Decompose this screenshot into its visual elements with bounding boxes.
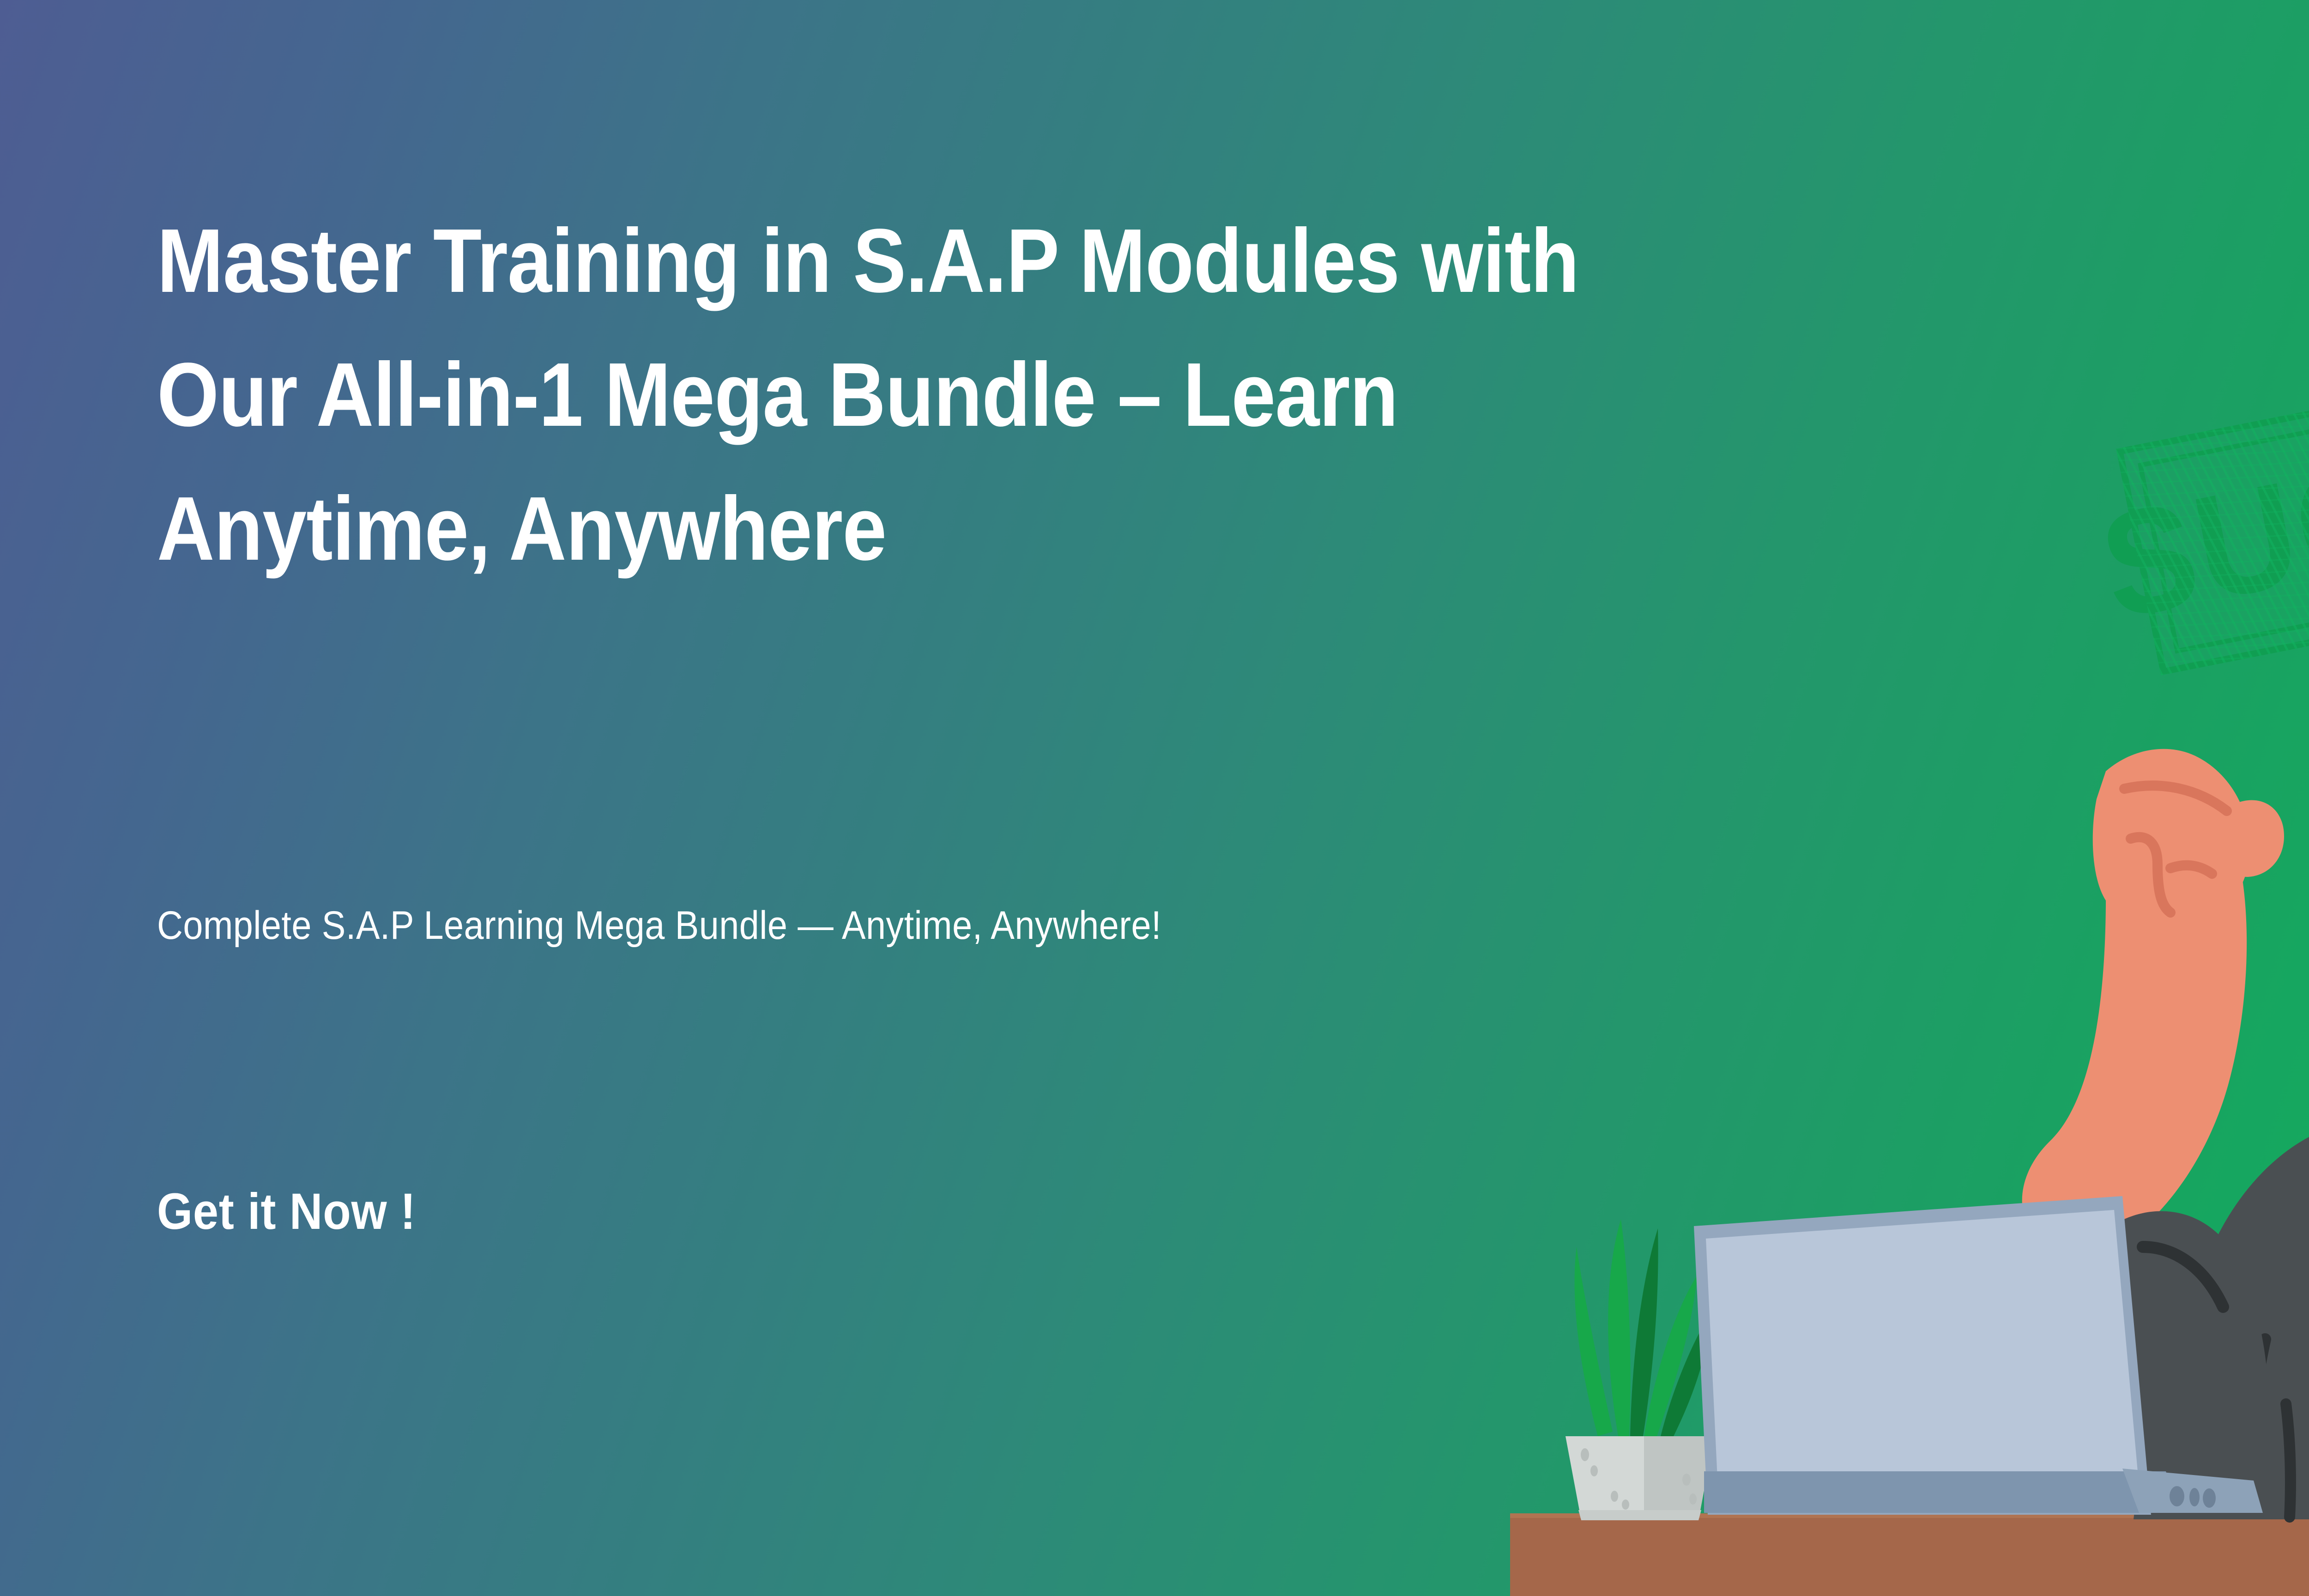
copy-block: Master Training in S.A.P Modules with Ou…: [157, 0, 2097, 1596]
laptop-port-icons: [2170, 1486, 2216, 1508]
subtitle: Complete S.A.P Learning Mega Bundle — An…: [157, 903, 1903, 949]
cta-label[interactable]: Get it Now !: [157, 1182, 416, 1241]
left-fist: [2093, 749, 2250, 930]
promo-banner: SUCCESS: [0, 0, 2309, 1596]
page-title: Master Training in S.A.P Modules with Ou…: [157, 194, 1904, 596]
left-cuff-line2: [2286, 1404, 2291, 1517]
